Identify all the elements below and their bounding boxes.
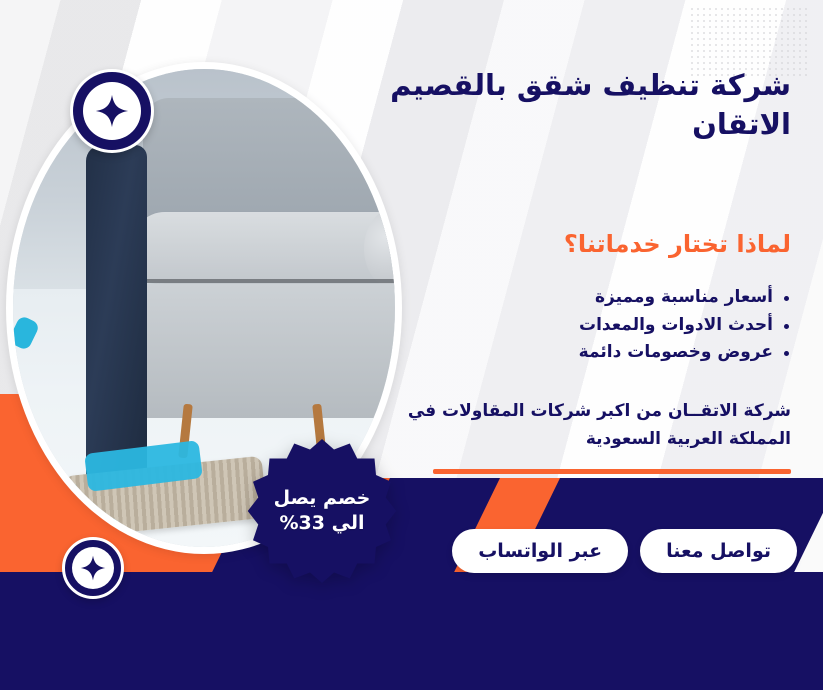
list-item: عروض وخصومات دائمة	[363, 339, 791, 367]
brand-logo-primary	[70, 69, 154, 153]
discount-line-1: خصم يصل	[274, 486, 371, 511]
page-title: شركة تنظيف شقق بالقصيم الاتقان	[363, 66, 791, 145]
photo-sofa-shadow	[128, 279, 395, 283]
discount-badge-text: خصم يصل الي 33%	[274, 486, 371, 536]
discount-line-2: الي 33%	[274, 511, 371, 536]
sparkle-four-point-star-icon	[72, 547, 114, 589]
photo-person-leg	[86, 145, 147, 499]
cta-button-row: تواصل معنا عبر الواتساب	[452, 529, 797, 573]
navy-bottom-right-block	[430, 572, 823, 690]
company-description: شركة الاتقــان من اكبر شركات المقاولات ف…	[363, 397, 791, 453]
brand-logo-secondary	[62, 537, 124, 599]
photo-sofa-arm	[131, 212, 395, 284]
orange-divider	[433, 469, 791, 474]
contact-us-button[interactable]: تواصل معنا	[640, 529, 797, 573]
section-subtitle: لماذا تختار خدماتنا؟	[363, 229, 791, 260]
photo-sofa-seat	[128, 284, 395, 418]
content-column: شركة تنظيف شقق بالقصيم الاتقان لماذا تخت…	[363, 66, 791, 474]
list-item: أسعار مناسبة ومميزة	[363, 284, 791, 312]
advertisement-poster: خصم يصل الي 33% شركة تنظيف شقق بالقصيم ا…	[0, 0, 823, 690]
sparkle-four-point-star-icon	[83, 82, 141, 140]
list-item: أحدث الادوات والمعدات	[363, 312, 791, 340]
whatsapp-button[interactable]: عبر الواتساب	[452, 529, 628, 573]
benefits-list: أسعار مناسبة ومميزة أحدث الادوات والمعدا…	[363, 284, 791, 367]
